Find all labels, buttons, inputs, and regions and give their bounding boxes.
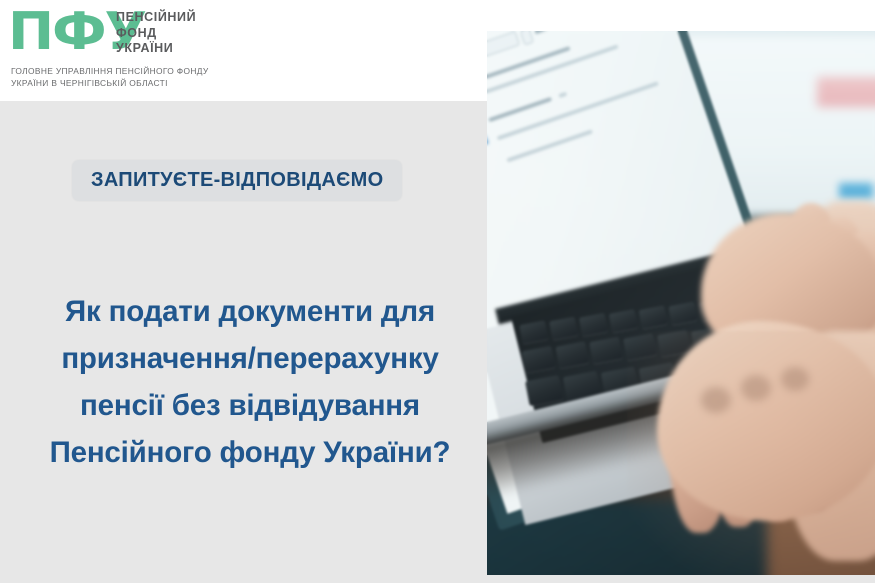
keyboard-key bbox=[519, 320, 548, 344]
keyboard-key bbox=[522, 346, 556, 373]
poster-canvas: ПФУ ПЕНСІЙНИЙ ФОНД УКРАЇНИ ГОЛОВНЕ УПРАВ… bbox=[0, 0, 875, 583]
screen-text-line bbox=[558, 92, 567, 98]
headline-line-4: Пенсійного фонду України? bbox=[0, 429, 500, 476]
rubric-badge: ЗАПИТУЄТЕ-ВІДПОВІДАЄМО bbox=[72, 160, 402, 201]
background-monitor-pink-banner bbox=[817, 77, 875, 107]
screen-blue-button bbox=[487, 106, 489, 150]
headline-line-1: Як подати документи для bbox=[0, 288, 500, 335]
pfu-logo-org-name: ПЕНСІЙНИЙ ФОНД УКРАЇНИ bbox=[116, 10, 196, 57]
headline-line-2: призначення/перерахунку bbox=[0, 335, 500, 382]
keyboard-key bbox=[555, 341, 589, 368]
header-white-band-right bbox=[487, 0, 875, 31]
logo-org-line-3: УКРАЇНИ bbox=[116, 41, 196, 57]
screen-toolbar-tab bbox=[520, 31, 534, 46]
pfu-logo-subtitle: ГОЛОВНЕ УПРАВЛІННЯ ПЕНСІЙНОГО ФОНДУ УКРА… bbox=[11, 65, 241, 90]
headline: Як подати документи для призначення/пере… bbox=[0, 288, 500, 476]
keyboard-key bbox=[609, 309, 638, 333]
screen-text-line bbox=[506, 129, 592, 162]
keyboard-key bbox=[639, 305, 668, 329]
keyboard-key bbox=[525, 375, 563, 406]
screen-text-line bbox=[488, 97, 552, 122]
photo-warm-vignette bbox=[627, 331, 875, 575]
keyboard-key bbox=[668, 301, 697, 325]
background-monitor-blue-accent bbox=[839, 183, 873, 199]
screen-text-line bbox=[534, 31, 584, 34]
pfu-logo: ПФУ ПЕНСІЙНИЙ ФОНД УКРАЇНИ ГОЛОВНЕ УПРАВ… bbox=[8, 4, 308, 96]
screen-toolbar-tab bbox=[487, 31, 520, 65]
headline-line-3: пенсії без відвідування bbox=[0, 382, 500, 429]
laptop-typing-photo bbox=[487, 31, 875, 575]
logo-org-line-1: ПЕНСІЙНИЙ bbox=[116, 10, 196, 26]
logo-org-line-2: ФОНД bbox=[116, 26, 196, 42]
keyboard-key bbox=[549, 317, 578, 341]
keyboard-key bbox=[579, 313, 608, 337]
keyboard-key bbox=[589, 337, 623, 364]
